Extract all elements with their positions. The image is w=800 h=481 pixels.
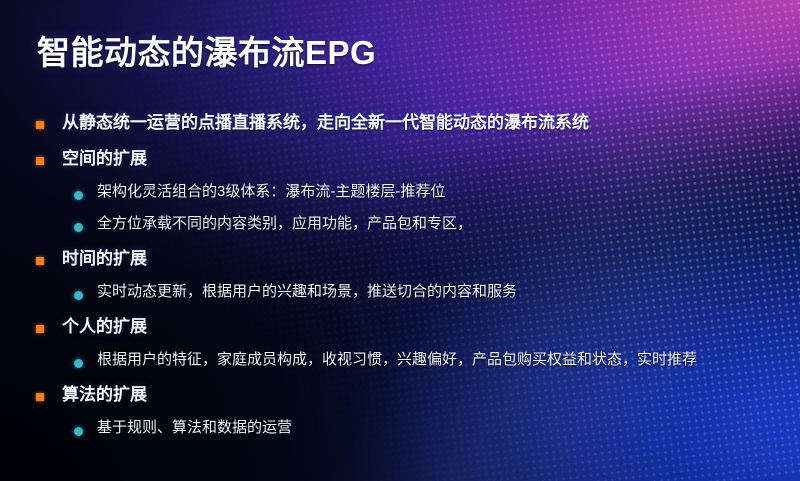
circle-bullet-icon	[74, 191, 83, 200]
bullet-row-level2: 根据用户的特征，家庭成员构成，收视习惯，兴趣偏好，产品包购买权益和状态，实时推荐	[0, 348, 800, 380]
bullet-row-level1: 个人的扩展	[0, 312, 800, 348]
bullet-row-level1: 算法的扩展	[0, 380, 800, 416]
bullet-text: 算法的扩展	[62, 380, 147, 405]
square-bullet-icon	[36, 393, 44, 401]
square-bullet-icon	[36, 121, 44, 129]
circle-bullet-icon	[74, 359, 83, 368]
bullet-text: 从静态统一运营的点播直播系统，走向全新一代智能动态的瀑布流系统	[62, 108, 589, 133]
bullet-row-level2: 架构化灵活组合的3级体系：瀑布流-主题楼层-推荐位	[0, 180, 800, 212]
bullet-text: 个人的扩展	[62, 312, 147, 337]
bullet-row-level2: 全方位承载不同的内容类别，应用功能，产品包和专区，	[0, 212, 800, 244]
bullet-row-level2: 基于规则、算法和数据的运营	[0, 416, 800, 448]
bullet-text: 架构化灵活组合的3级体系：瀑布流-主题楼层-推荐位	[97, 180, 445, 201]
bullet-text: 基于规则、算法和数据的运营	[97, 416, 292, 437]
slide-title: 智能动态的瀑布流EPG	[37, 26, 376, 74]
bullet-row-level1: 从静态统一运营的点播直播系统，走向全新一代智能动态的瀑布流系统	[0, 108, 800, 144]
bullet-text: 空间的扩展	[62, 144, 147, 169]
bullet-row-level1: 空间的扩展	[0, 144, 800, 180]
circle-bullet-icon	[74, 427, 83, 436]
square-bullet-icon	[36, 257, 44, 265]
bullet-text: 全方位承载不同的内容类别，应用功能，产品包和专区，	[97, 212, 472, 233]
bullet-row-level2: 实时动态更新，根据用户的兴趣和场景，推送切合的内容和服务	[0, 280, 800, 312]
bullet-text: 根据用户的特征，家庭成员构成，收视习惯，兴趣偏好，产品包购买权益和状态，实时推荐	[97, 348, 697, 369]
bullet-list: 从静态统一运营的点播直播系统，走向全新一代智能动态的瀑布流系统空间的扩展架构化灵…	[0, 108, 800, 448]
square-bullet-icon	[36, 325, 44, 333]
circle-bullet-icon	[74, 291, 83, 300]
slide-content: 智能动态的瀑布流EPG 从静态统一运营的点播直播系统，走向全新一代智能动态的瀑布…	[0, 0, 800, 481]
bullet-row-level1: 时间的扩展	[0, 244, 800, 280]
presentation-slide: 智能动态的瀑布流EPG 从静态统一运营的点播直播系统，走向全新一代智能动态的瀑布…	[0, 0, 800, 481]
bullet-text: 实时动态更新，根据用户的兴趣和场景，推送切合的内容和服务	[97, 280, 517, 301]
circle-bullet-icon	[74, 223, 83, 232]
bullet-text: 时间的扩展	[62, 244, 147, 269]
square-bullet-icon	[36, 157, 44, 165]
